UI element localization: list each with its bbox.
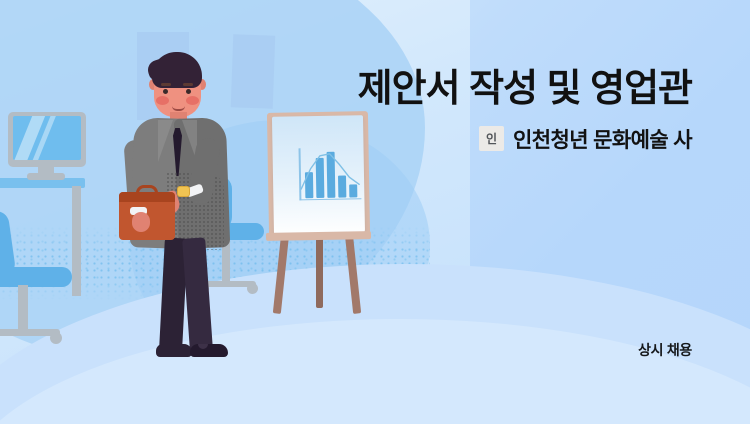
jacket-lapel-left [158, 120, 173, 162]
right-eye [186, 89, 191, 94]
chair-post [18, 285, 28, 333]
chair-seat [0, 267, 72, 287]
chair-wheel [50, 332, 62, 344]
banner-subtitle: 인천청년 문화예술 사 [513, 124, 692, 154]
left-cheek-blush [156, 96, 169, 105]
briefcase-top-edge [119, 192, 175, 202]
chart-trend-curve [299, 147, 362, 200]
left-eye [163, 89, 168, 94]
banner-text-block: 제안서 작성 및 영업관 인 인천청년 문화예술 사 [262, 68, 692, 154]
left-eyebrow [161, 83, 171, 86]
right-trouser-leg [182, 237, 213, 350]
wristwatch-icon [177, 186, 190, 197]
businessman-illustration [118, 52, 248, 362]
right-cheek-blush [186, 96, 199, 105]
office-chair-left-icon [0, 205, 100, 335]
organization-badge: 인 [479, 126, 504, 151]
monitor-screen-icon [13, 116, 81, 160]
right-shoe [190, 344, 228, 357]
right-eyebrow [183, 83, 193, 86]
monitor-foot-icon [27, 173, 65, 180]
subtitle-row: 인 인천청년 문화예술 사 [262, 124, 692, 154]
left-hand [132, 212, 150, 232]
page-title: 제안서 작성 및 영업관 [262, 68, 692, 111]
recruitment-banner: 제안서 작성 및 영업관 인 인천청년 문화예술 사 상시 채용 [0, 0, 750, 424]
chair-wheel [247, 283, 258, 294]
hair [152, 52, 202, 88]
recruitment-status-label: 상시 채용 [638, 340, 692, 360]
left-shoe [156, 344, 192, 357]
bar-chart-graphic [299, 147, 362, 206]
easel-tray [266, 231, 371, 241]
